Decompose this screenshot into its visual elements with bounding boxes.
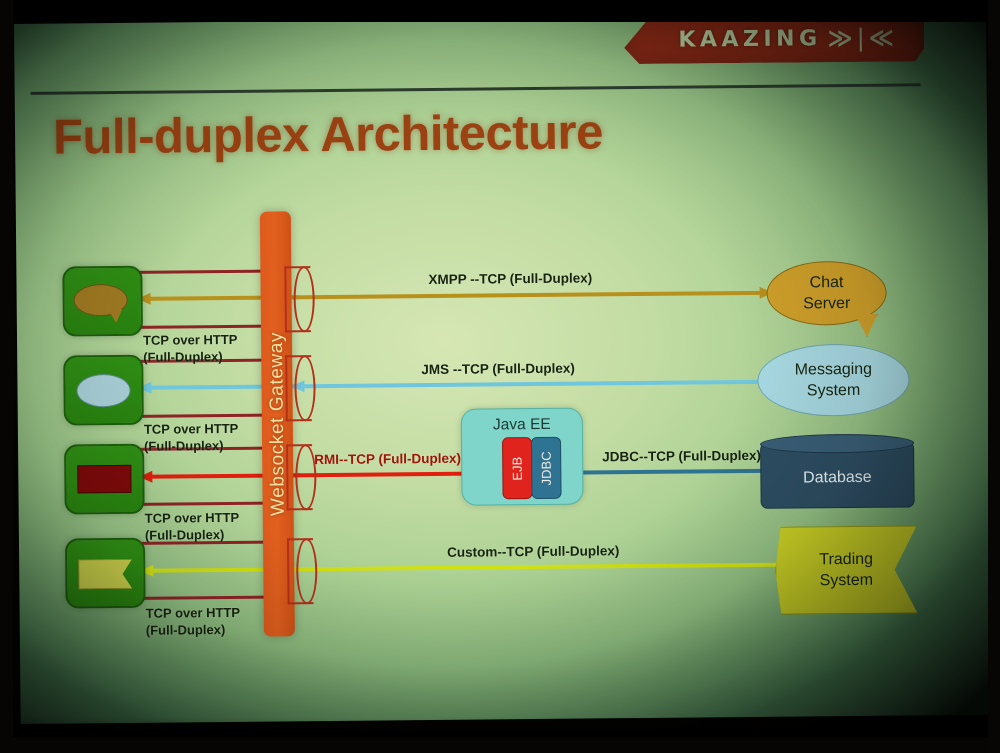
server-chat[interactable]: Chat Server [766, 261, 887, 326]
java-ee-container[interactable]: Java EE EJB JDBC [461, 408, 584, 506]
server-trading[interactable]: Trading System [775, 525, 918, 614]
presentation-photo: KAAZING ≫❘≪ Full-duplex Architecture [0, 0, 1000, 753]
photo-left-border [0, 0, 13, 753]
http-label-trading: TCP over HTTP (Full-Duplex) [146, 604, 241, 639]
gateway-tube-chat [284, 266, 319, 328]
http-label-database: TCP over HTTP (Full-Duplex) [145, 509, 240, 544]
connection-arrow-jdbc [560, 469, 790, 475]
http-label-chat: TCP over HTTP (Full-Duplex) [143, 331, 238, 366]
java-ee-title: Java EE [462, 416, 582, 435]
client-trading[interactable] [65, 538, 146, 609]
http-rail-chat-bottom [135, 325, 263, 329]
blue-ellipse-icon [74, 371, 132, 410]
dark-red-rect-icon [75, 460, 133, 499]
label-rmi: RMI--TCP (Full-Duplex) [314, 451, 461, 467]
client-database[interactable] [64, 444, 145, 515]
label-jdbc: JDBC--TCP (Full-Duplex) [602, 448, 761, 465]
chat-bubble-icon [73, 282, 131, 321]
gateway-tube-trading [287, 538, 322, 600]
gateway-tube-messaging [285, 355, 320, 417]
photo-bottom-border [0, 737, 1000, 753]
label-jms: JMS --TCP (Full-Duplex) [421, 361, 575, 377]
http-label-messaging: TCP over HTTP (Full-Duplex) [144, 420, 239, 455]
server-database[interactable]: Database [760, 441, 915, 508]
yellow-flag-icon [76, 554, 134, 593]
connection-arrow-jms [292, 380, 782, 389]
ejb-module[interactable]: EJB [502, 437, 533, 499]
label-custom: Custom--TCP (Full-Duplex) [447, 543, 619, 560]
connection-arrow-custom [294, 563, 789, 572]
server-trading-text: Trading System [776, 526, 917, 613]
http-rail-database-bottom [137, 502, 265, 506]
architecture-diagram: Websocket Gateway [14, 15, 993, 724]
client-chat[interactable] [62, 266, 143, 337]
jdbc-module[interactable]: JDBC [531, 437, 562, 499]
slide-surface: KAAZING ≫❘≪ Full-duplex Architecture [14, 15, 993, 724]
label-xmpp: XMPP --TCP (Full-Duplex) [428, 270, 592, 287]
server-messaging[interactable]: Messaging System [757, 343, 910, 416]
photo-right-border [988, 0, 1000, 753]
server-messaging-text: Messaging System [758, 344, 909, 415]
http-rail-messaging-bottom [136, 414, 264, 418]
http-rail-chat-top [134, 270, 262, 274]
client-messaging[interactable] [63, 355, 144, 426]
http-rail-trading-bottom [138, 596, 266, 600]
photo-top-border [0, 0, 1000, 22]
connection-arrow-xmpp [292, 291, 772, 300]
